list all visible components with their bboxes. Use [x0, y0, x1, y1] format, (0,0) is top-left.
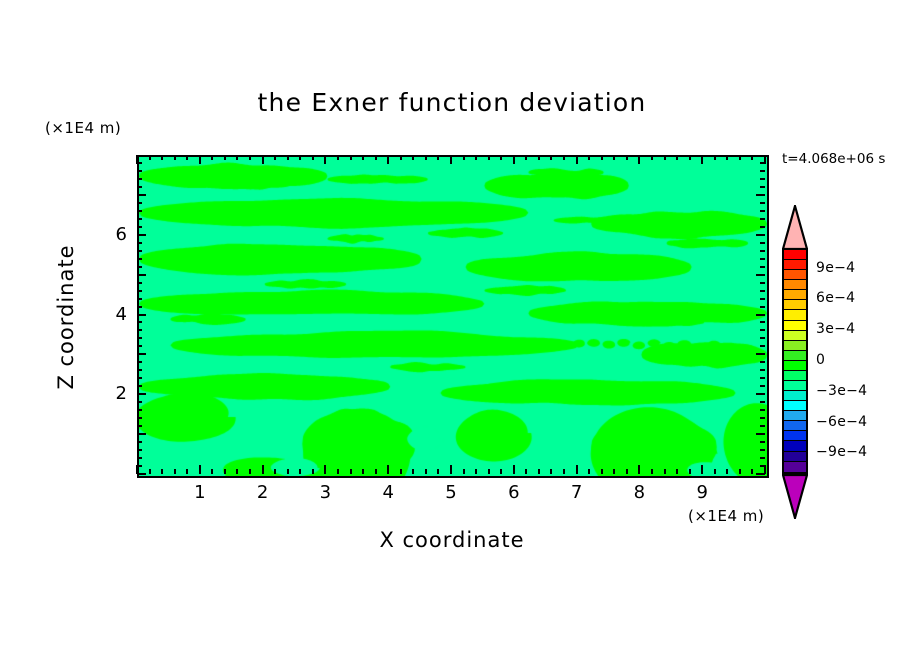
x-axis-tick: [664, 469, 666, 474]
z-axis-tick: [760, 202, 765, 204]
x-axis-tick: [588, 155, 590, 160]
x-axis-tick: [588, 469, 590, 474]
z-axis-tick: [760, 210, 765, 212]
z-axis-tick: [760, 361, 765, 363]
z-axis-tick: [137, 329, 142, 331]
colorbar-tick-label: 6e−4: [816, 290, 855, 306]
x-axis-tick: [525, 469, 527, 474]
colorbar-band: [784, 441, 806, 451]
z-axis-tick: [137, 274, 146, 276]
colorbar-band: [784, 462, 806, 472]
x-axis-tick: [488, 155, 490, 160]
x-axis-tick: [651, 469, 653, 474]
x-axis-tick-label: 3: [310, 482, 340, 503]
z-axis-tick: [137, 465, 142, 467]
x-axis-tick: [174, 155, 176, 160]
z-axis-tick: [760, 178, 765, 180]
colorbar-tick-label: 0: [816, 352, 825, 368]
x-axis-tick: [538, 155, 540, 160]
x-axis-tick: [601, 469, 603, 474]
z-axis-tick: [760, 369, 765, 371]
z-axis-tick: [137, 433, 146, 435]
x-axis-tick: [613, 469, 615, 474]
x-axis-tick: [689, 469, 691, 474]
x-axis-tick: [412, 469, 414, 474]
colorbar-tick-label: −3e−4: [816, 383, 867, 399]
z-axis-tick: [137, 314, 146, 316]
x-axis-tick: [224, 155, 226, 160]
x-axis-tick-label: 6: [499, 482, 529, 503]
x-axis-tick: [701, 465, 703, 474]
colorbar-band: [784, 280, 806, 290]
x-axis-tick: [149, 155, 151, 160]
contour-plot-area: [137, 155, 769, 478]
z-axis-tick: [756, 433, 765, 435]
x-axis-tick: [274, 155, 276, 160]
z-axis-tick: [756, 353, 765, 355]
z-axis-title: Z coordinate: [54, 217, 78, 417]
x-axis-tick: [224, 469, 226, 474]
z-axis-tick: [137, 290, 142, 292]
z-axis-tick: [137, 369, 142, 371]
z-axis-tick: [760, 218, 765, 220]
colorbar-bands: [782, 248, 808, 474]
x-axis-tick-label: 8: [624, 482, 654, 503]
colorbar-band: [784, 371, 806, 381]
x-axis-tick: [563, 469, 565, 474]
z-axis-tick: [137, 298, 142, 300]
colorbar-band: [784, 341, 806, 351]
x-axis-tick: [287, 469, 289, 474]
x-axis-tick: [425, 469, 427, 474]
z-axis-tick: [760, 449, 765, 451]
z-axis-tick: [137, 361, 142, 363]
z-axis-tick: [137, 409, 142, 411]
z-axis-tick: [137, 266, 142, 268]
x-axis-tick: [425, 155, 427, 160]
x-axis-tick: [726, 469, 728, 474]
z-axis-tick: [137, 377, 142, 379]
z-axis-tick: [137, 170, 142, 172]
x-axis-tick: [651, 155, 653, 160]
x-axis-tick: [324, 155, 326, 164]
z-axis-tick: [760, 457, 765, 459]
colorbar-band: [784, 351, 806, 361]
x-axis-tick: [350, 469, 352, 474]
x-axis-tick: [726, 155, 728, 160]
z-axis-tick: [756, 234, 765, 236]
x-axis-tick: [626, 155, 628, 160]
z-axis-tick: [760, 401, 765, 403]
colorbar-band: [784, 260, 806, 270]
x-axis-tick: [186, 155, 188, 160]
z-axis-tick: [760, 266, 765, 268]
z-axis-tick: [760, 417, 765, 419]
x-axis-tick: [412, 155, 414, 160]
x-axis-tick: [525, 155, 527, 160]
x-axis-tick: [576, 465, 578, 474]
colorbar-band: [784, 391, 806, 401]
colorbar-band: [784, 290, 806, 300]
z-axis-tick: [756, 274, 765, 276]
z-axis-tick: [760, 290, 765, 292]
x-axis-tick: [550, 155, 552, 160]
x-axis-tick: [463, 469, 465, 474]
z-axis-tick: [137, 337, 142, 339]
z-axis-tick: [137, 242, 142, 244]
x-axis-tick: [299, 469, 301, 474]
z-axis-tick: [760, 385, 765, 387]
x-axis-tick: [676, 469, 678, 474]
x-axis-tick: [638, 465, 640, 474]
colorbar-band: [784, 401, 806, 411]
z-axis-tick: [760, 465, 765, 467]
z-axis-tick: [760, 170, 765, 172]
x-axis-tick: [689, 155, 691, 160]
x-axis-tick: [199, 155, 201, 164]
colorbar-band: [784, 250, 806, 260]
x-axis-tick-label: 7: [562, 482, 592, 503]
colorbar-band: [784, 310, 806, 320]
x-axis-tick: [638, 155, 640, 164]
x-axis-tick: [500, 469, 502, 474]
x-axis-tick: [287, 155, 289, 160]
x-axis-tick: [400, 469, 402, 474]
x-axis-tick: [613, 155, 615, 160]
x-axis-title: X coordinate: [0, 528, 904, 552]
x-axis-tick: [249, 155, 251, 160]
z-axis-tick: [137, 186, 142, 188]
z-axis-tick: [137, 210, 142, 212]
x-axis-tick: [211, 469, 213, 474]
colorbar-top-arrow-icon: [782, 205, 808, 250]
x-axis-tick: [299, 155, 301, 160]
x-axis-tick-label: 1: [185, 482, 215, 503]
colorbar-band: [784, 421, 806, 431]
z-axis-tick: [137, 306, 142, 308]
colorbar: [778, 205, 812, 517]
z-axis-tick: [137, 194, 146, 196]
z-axis-tick: [760, 345, 765, 347]
z-axis-tick: [137, 417, 142, 419]
z-axis-tick: [137, 178, 142, 180]
z-axis-unit-label: (×1E4 m): [45, 119, 121, 137]
x-axis-tick: [739, 155, 741, 160]
z-axis-tick-label: 6: [97, 224, 127, 245]
x-axis-tick: [751, 155, 753, 160]
x-axis-tick: [475, 469, 477, 474]
z-axis-tick: [756, 194, 765, 196]
x-axis-tick: [714, 155, 716, 160]
x-axis-tick: [174, 469, 176, 474]
z-axis-tick: [137, 282, 142, 284]
x-axis-tick: [161, 469, 163, 474]
x-axis-tick: [387, 465, 389, 474]
x-axis-tick: [186, 469, 188, 474]
z-axis-tick: [137, 441, 142, 443]
colorbar-band: [784, 300, 806, 310]
x-axis-tick: [387, 155, 389, 164]
z-axis-tick-label: 2: [97, 383, 127, 404]
x-axis-tick: [751, 469, 753, 474]
z-axis-tick: [137, 401, 142, 403]
z-axis-tick: [137, 162, 142, 164]
x-axis-tick: [488, 469, 490, 474]
x-axis-tick: [450, 155, 452, 164]
x-axis-tick-label: 4: [373, 482, 403, 503]
x-axis-tick: [714, 469, 716, 474]
chart-title: the Exner function deviation: [0, 88, 904, 117]
z-axis-tick: [137, 473, 146, 475]
colorbar-band: [784, 331, 806, 341]
x-axis-tick: [500, 155, 502, 160]
colorbar-band: [784, 411, 806, 421]
colorbar-band: [784, 361, 806, 371]
x-axis-tick: [337, 155, 339, 160]
z-axis-tick: [760, 250, 765, 252]
x-axis-tick: [550, 469, 552, 474]
z-axis-tick: [760, 321, 765, 323]
z-axis-tick: [137, 449, 142, 451]
x-axis-tick: [450, 465, 452, 474]
z-axis-tick: [137, 226, 142, 228]
x-axis-tick: [350, 155, 352, 160]
x-axis-tick: [563, 155, 565, 160]
x-axis-tick: [475, 155, 477, 160]
contour-field-canvas: [139, 157, 767, 476]
x-axis-tick: [437, 469, 439, 474]
colorbar-tick-label: 9e−4: [816, 260, 855, 276]
z-axis-tick: [760, 425, 765, 427]
colorbar-bottom-arrow-icon: [782, 474, 808, 519]
z-axis-tick: [137, 250, 142, 252]
z-axis-tick: [137, 321, 142, 323]
z-axis-tick: [137, 345, 142, 347]
z-axis-tick: [137, 353, 146, 355]
colorbar-band: [784, 381, 806, 391]
z-axis-tick: [756, 473, 765, 475]
z-axis-tick: [760, 298, 765, 300]
colorbar-band: [784, 321, 806, 331]
x-axis-tick: [576, 155, 578, 164]
z-axis-tick: [760, 242, 765, 244]
z-axis-tick: [760, 186, 765, 188]
z-axis-tick: [760, 329, 765, 331]
x-axis-tick: [249, 469, 251, 474]
x-axis-tick: [236, 155, 238, 160]
x-axis-tick: [626, 469, 628, 474]
z-axis-tick: [137, 457, 142, 459]
z-axis-tick: [137, 234, 146, 236]
z-axis-tick: [760, 226, 765, 228]
z-axis-tick: [137, 218, 142, 220]
x-axis-tick: [513, 465, 515, 474]
colorbar-tick-labels: 9e−46e−43e−40−3e−4−6e−4−9e−4: [816, 205, 904, 517]
x-axis-tick: [262, 465, 264, 474]
x-axis-tick: [538, 469, 540, 474]
x-axis-tick-label: 9: [687, 482, 717, 503]
x-axis-tick-label: 5: [436, 482, 466, 503]
z-axis-tick: [760, 377, 765, 379]
z-axis-tick: [137, 425, 142, 427]
timestamp-annotation: t=4.068e+06 s: [782, 151, 885, 167]
colorbar-band: [784, 431, 806, 441]
x-axis-tick: [601, 155, 603, 160]
x-axis-tick: [262, 155, 264, 164]
z-axis-tick: [137, 258, 142, 260]
x-axis-tick: [701, 155, 703, 164]
x-axis-tick: [337, 469, 339, 474]
z-axis-tick: [760, 337, 765, 339]
z-axis-tick: [760, 282, 765, 284]
z-axis-tick: [137, 202, 142, 204]
x-axis-tick: [312, 469, 314, 474]
x-axis-tick: [199, 465, 201, 474]
z-axis-tick: [760, 162, 765, 164]
z-axis-tick: [760, 409, 765, 411]
z-axis-tick: [760, 258, 765, 260]
x-axis-unit-label: (×1E4 m): [688, 507, 764, 525]
x-axis-tick: [513, 155, 515, 164]
x-axis-tick: [161, 155, 163, 160]
colorbar-tick-label: −6e−4: [816, 414, 867, 430]
x-axis-tick: [437, 155, 439, 160]
x-axis-tick: [236, 469, 238, 474]
z-axis-tick: [760, 306, 765, 308]
x-axis-tick: [664, 155, 666, 160]
x-axis-tick: [149, 469, 151, 474]
x-axis-tick: [211, 155, 213, 160]
z-axis-tick: [760, 441, 765, 443]
colorbar-band: [784, 270, 806, 280]
x-axis-tick: [463, 155, 465, 160]
x-axis-tick: [312, 155, 314, 160]
x-axis-tick: [375, 469, 377, 474]
x-axis-tick: [375, 155, 377, 160]
z-axis-tick-label: 4: [97, 304, 127, 325]
x-axis-tick: [362, 155, 364, 160]
x-axis-tick: [739, 469, 741, 474]
colorbar-tick-label: −9e−4: [816, 444, 867, 460]
colorbar-tick-label: 3e−4: [816, 321, 855, 337]
x-axis-tick: [274, 469, 276, 474]
x-axis-tick: [324, 465, 326, 474]
colorbar-band: [784, 452, 806, 462]
z-axis-tick: [137, 385, 142, 387]
x-axis-tick-label: 2: [248, 482, 278, 503]
x-axis-tick: [362, 469, 364, 474]
z-axis-tick: [756, 393, 765, 395]
z-axis-tick: [137, 393, 146, 395]
x-axis-tick: [400, 155, 402, 160]
x-axis-tick: [676, 155, 678, 160]
z-axis-tick: [756, 314, 765, 316]
